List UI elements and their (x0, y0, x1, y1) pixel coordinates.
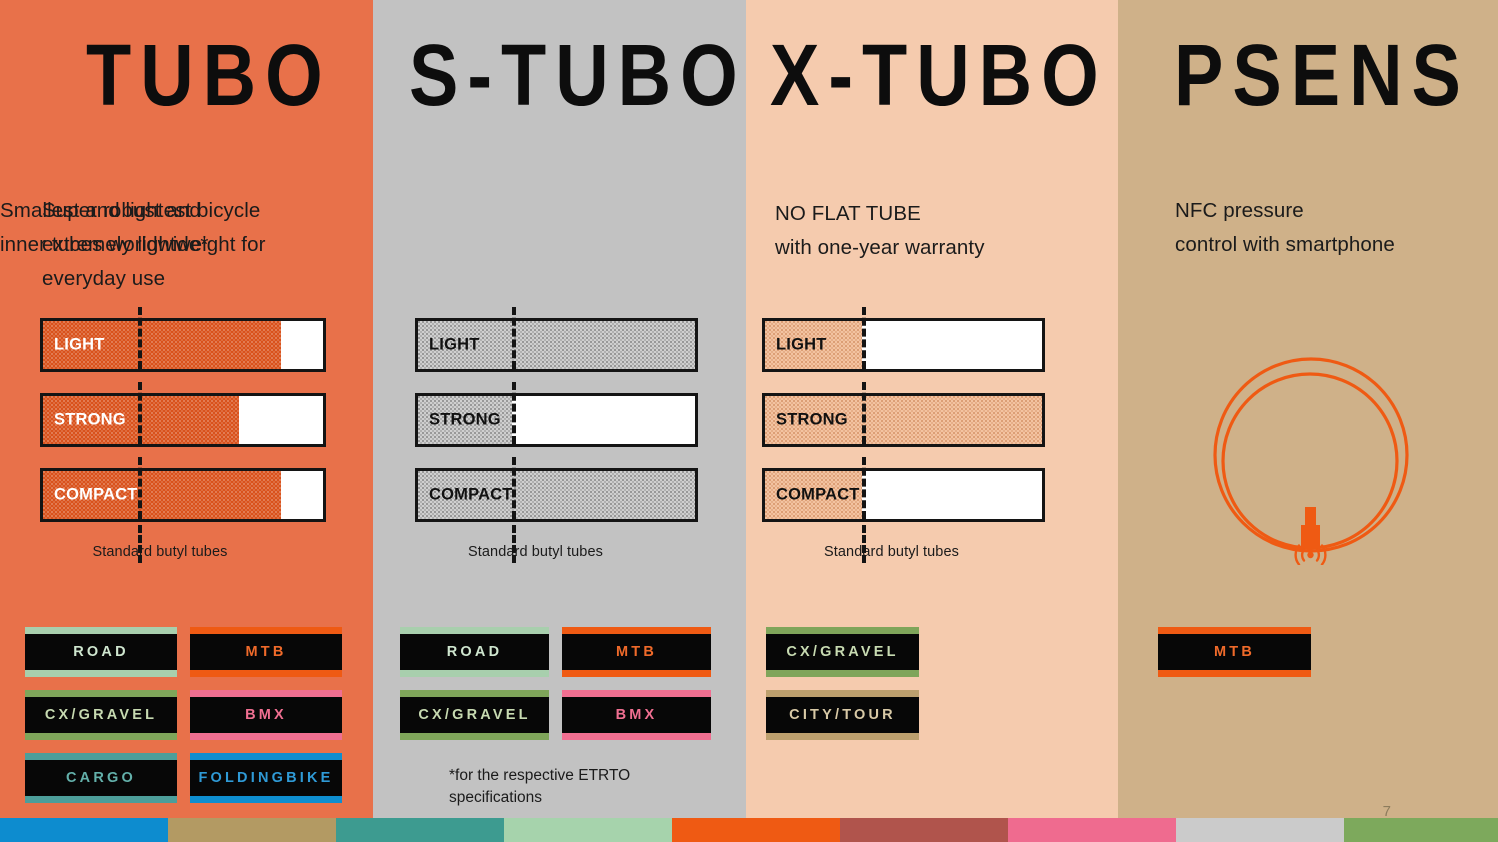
tag-city-tour[interactable]: CITY/TOUR (766, 690, 919, 740)
column-title-x-tubo: X-TUBO (770, 32, 1108, 119)
reference-line-tail (138, 525, 142, 563)
bar-chart-tubo: LIGHT STRONG COMPACT Standard butyl tube… (40, 318, 326, 560)
reference-line-compact (138, 457, 142, 519)
product-columns: TUBO Super robust and extremely lightwei… (0, 0, 1498, 818)
tag-cargo[interactable]: CARGO (25, 753, 177, 803)
stripe-brick (840, 818, 1008, 842)
nfc-inner-tube-icon (1206, 355, 1416, 570)
column-subtitle-x-tubo: NO FLAT TUBE with one-year warranty (775, 197, 985, 265)
reference-line-strong (862, 382, 866, 444)
bar-row-compact: COMPACT (762, 468, 1045, 522)
column-x-tubo: X-TUBO NO FLAT TUBE with one-year warran… (746, 0, 1118, 818)
bar-row-compact: COMPACT (415, 468, 698, 522)
tag-road[interactable]: ROAD (400, 627, 549, 677)
bar-label-strong: STRONG (54, 411, 126, 430)
chart-caption-tubo: Standard butyl tubes (0, 544, 326, 560)
bar-row-strong: STRONG (415, 393, 698, 447)
stripe-pink (1008, 818, 1176, 842)
reference-line-light (862, 307, 866, 369)
column-tubo: TUBO Super robust and extremely lightwei… (0, 0, 373, 818)
tag-cx-gravel[interactable]: CX/GRAVEL (766, 627, 919, 677)
chart-caption-x-tubo: Standard butyl tubes (738, 544, 1045, 560)
stripe-tan (168, 818, 336, 842)
tag-foldingbike[interactable]: FOLDINGBIKE (190, 753, 342, 803)
bar-row-light: LIGHT (40, 318, 326, 372)
bar-row-compact: COMPACT (40, 468, 326, 522)
tag-list-x-tubo: CX/GRAVEL CITY/TOUR (746, 627, 1066, 740)
tag-road[interactable]: ROAD (25, 627, 177, 677)
column-title-psens: PSENS (1174, 32, 1470, 119)
reference-line-compact (512, 457, 516, 519)
stripe-teal (336, 818, 504, 842)
reference-line-compact (862, 457, 866, 519)
bar-label-light: LIGHT (776, 336, 827, 355)
bar-row-strong: STRONG (40, 393, 326, 447)
stripe-blue (0, 818, 168, 842)
reference-line-strong (138, 382, 142, 444)
bar-label-light: LIGHT (54, 336, 105, 355)
bar-label-compact: COMPACT (429, 486, 513, 505)
tag-mtb[interactable]: MTB (562, 627, 711, 677)
bar-label-compact: COMPACT (776, 486, 860, 505)
column-subtitle-psens: NFC pressure control with smartphone (1175, 194, 1395, 262)
column-s-tubo: S-TUBO Smallest and lightest bicycle inn… (373, 0, 746, 818)
bar-row-light: LIGHT (762, 318, 1045, 372)
slide-root: TUBO Super robust and extremely lightwei… (0, 0, 1498, 842)
reference-line-tail (512, 525, 516, 563)
footnote-etrto: *for the respective ETRTO specifications (449, 765, 630, 810)
column-psens: PSENS NFC pressure control with smartpho… (1118, 0, 1498, 818)
tag-list-s-tubo: ROAD MTB CX/GRAVEL BMX (400, 627, 720, 740)
tag-list-tubo: ROAD MTB CX/GRAVEL BMX CARGO FOLDINGBIKE (25, 627, 355, 803)
stripe-mint (504, 818, 672, 842)
reference-line-light (512, 307, 516, 369)
stripe-lightgray (1176, 818, 1344, 842)
column-subtitle-s-tubo: Smallest and lightest bicycle inner tube… (0, 194, 260, 262)
tag-mtb[interactable]: MTB (190, 627, 342, 677)
tag-list-psens: MTB (1158, 627, 1478, 677)
tag-bmx[interactable]: BMX (562, 690, 711, 740)
stripe-green (1344, 818, 1498, 842)
bar-chart-x-tubo: LIGHT STRONG COMPACT Standard butyl tube… (762, 318, 1045, 560)
bar-label-compact: COMPACT (54, 486, 138, 505)
tag-cx-gravel[interactable]: CX/GRAVEL (25, 690, 177, 740)
bottom-color-stripes (0, 818, 1498, 842)
bar-row-light: LIGHT (415, 318, 698, 372)
column-title-tubo: TUBO (86, 32, 332, 119)
bar-label-strong: STRONG (776, 411, 848, 430)
bar-chart-s-tubo: LIGHT STRONG COMPACT Standard butyl tube… (415, 318, 698, 560)
tag-cx-gravel[interactable]: CX/GRAVEL (400, 690, 549, 740)
reference-line-tail (862, 525, 866, 563)
reference-line-light (138, 307, 142, 369)
bar-label-strong: STRONG (429, 411, 501, 430)
reference-line-strong (512, 382, 516, 444)
bar-label-light: LIGHT (429, 336, 480, 355)
tag-mtb[interactable]: MTB (1158, 627, 1311, 677)
stripe-orange (672, 818, 840, 842)
tag-bmx[interactable]: BMX (190, 690, 342, 740)
column-title-s-tubo: S-TUBO (409, 32, 747, 119)
bar-row-strong: STRONG (762, 393, 1045, 447)
chart-caption-s-tubo: Standard butyl tubes (373, 544, 698, 560)
